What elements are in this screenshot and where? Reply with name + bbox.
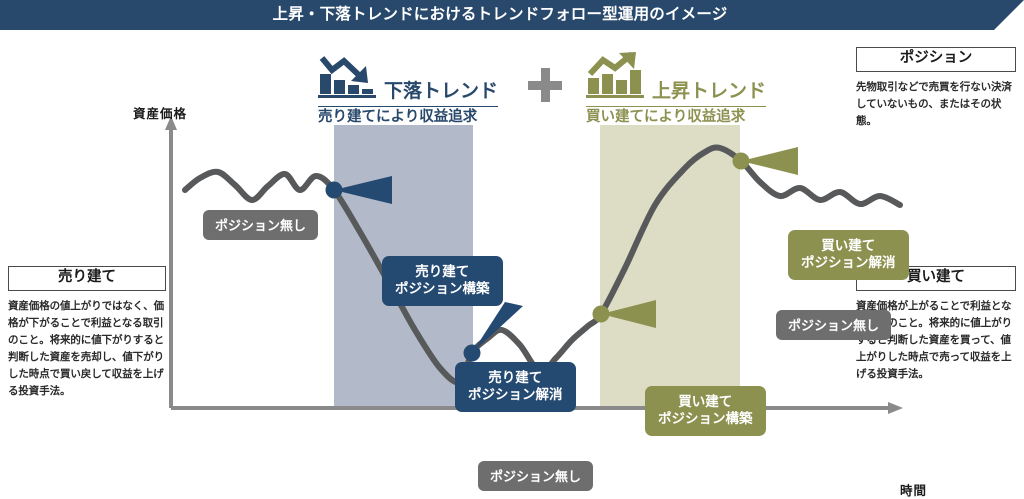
callout-sell-close[interactable]: 売り建て ポジション解消 xyxy=(455,362,576,412)
y-axis-label: 資産価格 xyxy=(133,103,187,122)
page-title: 上昇・下落トレンドにおけるトレンドフォロー型運用のイメージ xyxy=(0,0,1000,30)
callout-sell-close-line1: 売り建て xyxy=(468,369,563,386)
pill-no-position-2: ポジション無し xyxy=(478,461,593,491)
panel-position-title: ポジション xyxy=(856,47,1016,72)
callout-sell-close-line2: ポジション解消 xyxy=(468,386,563,403)
up-trend-band xyxy=(600,125,740,408)
callout-buy-open[interactable]: 買い建て ポジション構築 xyxy=(645,386,766,436)
callout-sell-open-line1: 売り建て xyxy=(395,263,490,280)
pill-no-position-1: ポジション無し xyxy=(203,210,318,240)
callout-buy-open-line1: 買い建て xyxy=(658,393,753,410)
callout-buy-open-line2: ポジション構築 xyxy=(658,410,753,427)
callout-buy-close[interactable]: 買い建て ポジション解消 xyxy=(788,230,909,280)
marker-buy-close xyxy=(733,153,750,170)
callout-sell-open[interactable]: 売り建て ポジション構築 xyxy=(382,256,503,306)
chart-area: 資産価格 時間 売り建て ポジション構築 売り建て ポジション解消 買い建て ポ… xyxy=(0,90,1024,418)
marker-sell-open xyxy=(326,182,343,199)
callout-buy-close-line1: 買い建て xyxy=(801,237,896,254)
marker-buy-open xyxy=(593,306,610,323)
callout-sell-open-line2: ポジション構築 xyxy=(395,280,490,297)
sell-close-pointer xyxy=(472,302,523,353)
x-axis-label: 時間 xyxy=(900,480,927,499)
marker-sell-close xyxy=(464,345,481,362)
callout-buy-close-line2: ポジション解消 xyxy=(801,254,896,271)
pill-no-position-3: ポジション無し xyxy=(776,310,891,340)
